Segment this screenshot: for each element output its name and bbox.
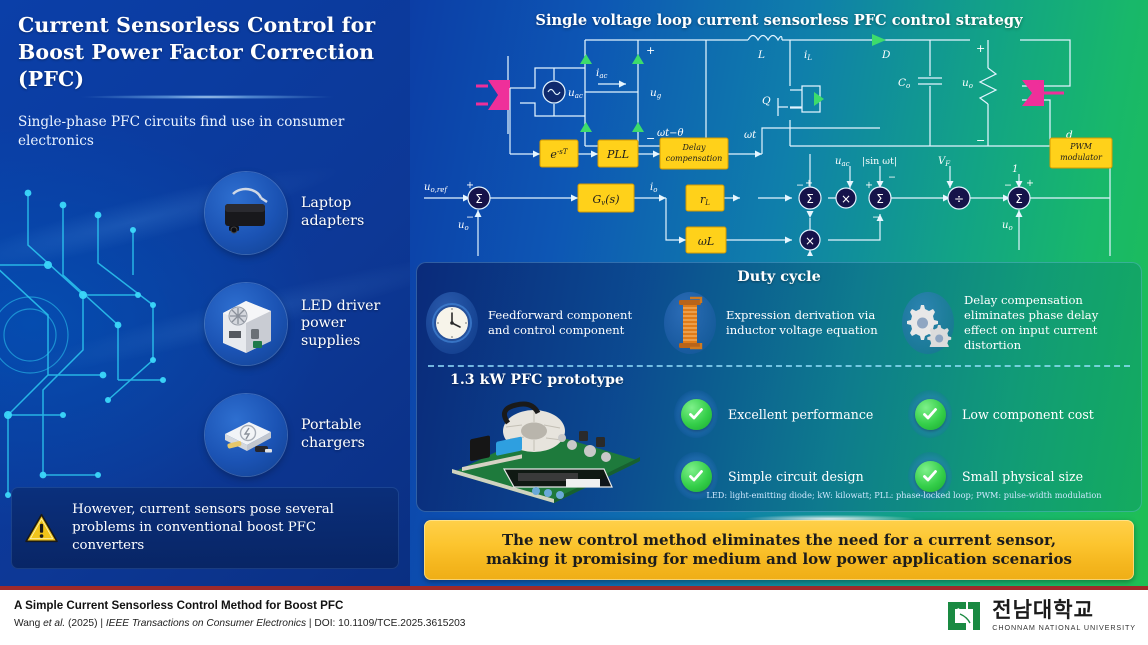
list-item-label: Feedforward component and control compon… bbox=[488, 308, 656, 338]
left-panel: Current Sensorless Control for Boost Pow… bbox=[0, 0, 410, 588]
svg-text:1: 1 bbox=[1012, 164, 1018, 175]
infographic-page: Current Sensorless Control for Boost Pow… bbox=[0, 0, 1148, 645]
list-item-label: Excellent performance bbox=[728, 407, 873, 422]
citation-line: Wang et al. (2025) | IEEE Transactions o… bbox=[14, 618, 465, 629]
svg-text:iL: iL bbox=[804, 49, 812, 62]
svg-text:+: + bbox=[865, 180, 873, 191]
svg-text:+: + bbox=[805, 178, 813, 189]
list-item: Portablechargers bbox=[205, 394, 405, 476]
svg-text:×: × bbox=[805, 234, 815, 248]
check-icon bbox=[908, 390, 952, 438]
warning-text: However, current sensors pose several pr… bbox=[72, 501, 385, 554]
product-list: Laptopadapters bbox=[205, 172, 405, 505]
svg-text:Gv(s): Gv(s) bbox=[593, 193, 620, 207]
year: (2025) bbox=[68, 618, 97, 629]
svg-text:D: D bbox=[881, 49, 891, 61]
svg-text:compensation: compensation bbox=[666, 154, 723, 163]
paper-title: A Simple Current Sensorless Control Meth… bbox=[14, 599, 343, 612]
list-item: Excellent performance bbox=[674, 390, 894, 438]
abbreviations-note: LED: light-emitting diode; kW: kilowatt;… bbox=[674, 490, 1134, 500]
diode-symbols bbox=[580, 34, 886, 132]
portable-charger-icon bbox=[205, 394, 287, 476]
svg-text:+: + bbox=[466, 180, 474, 191]
list-item: Low component cost bbox=[908, 390, 1128, 438]
duty-cycle-items: Feedforward component and control compon… bbox=[426, 292, 1132, 354]
list-item-label: LED driverpowersupplies bbox=[301, 298, 380, 351]
footer: A Simple Current Sensorless Control Meth… bbox=[0, 590, 1148, 645]
journal-name: IEEE Transactions on Consumer Electronic… bbox=[106, 618, 306, 629]
chonnam-logo-icon bbox=[944, 598, 984, 634]
list-item-label: Small physical size bbox=[962, 469, 1083, 484]
led-driver-psu-icon bbox=[205, 283, 287, 365]
warning-box: However, current sensors pose several pr… bbox=[11, 487, 399, 569]
section-divider bbox=[428, 365, 1130, 367]
svg-text:ug: ug bbox=[650, 87, 662, 100]
pfc-control-schematic: iac uac ug L iL Q D Co uo d +− +− bbox=[410, 28, 1148, 256]
list-item-label: Portablechargers bbox=[301, 417, 365, 452]
svg-text:L: L bbox=[757, 49, 765, 61]
svg-text:Q: Q bbox=[762, 95, 771, 107]
subtitle: Single-phase PFC circuits find use in co… bbox=[18, 113, 378, 152]
svg-text:Delay: Delay bbox=[682, 143, 706, 152]
ac-source-symbol bbox=[543, 81, 565, 103]
list-item-label: Delay compensation eliminates phase dela… bbox=[964, 293, 1132, 353]
svg-text:io: io bbox=[650, 182, 657, 194]
svg-text:uo,ref: uo,ref bbox=[424, 182, 448, 194]
svg-text:Σ: Σ bbox=[1015, 192, 1023, 206]
doi[interactable]: DOI: 10.1109/TCE.2025.3615203 bbox=[314, 618, 465, 629]
conclusion-line1: The new control method eliminates the ne… bbox=[486, 531, 1072, 551]
warning-triangle-icon bbox=[25, 499, 58, 557]
logo-english-text: CHONNAM NATIONAL UNIVERSITY bbox=[992, 623, 1136, 632]
pfc-prototype-photo bbox=[444, 395, 644, 505]
svg-text:PLL: PLL bbox=[606, 148, 629, 161]
svg-text:−: − bbox=[466, 212, 474, 223]
list-item-label: Laptopadapters bbox=[301, 195, 364, 230]
laptop-adapter-icon bbox=[205, 172, 287, 254]
list-item: Delay compensation eliminates phase dela… bbox=[902, 292, 1132, 354]
list-item: LED driverpowersupplies bbox=[205, 283, 405, 365]
svg-text:PWM: PWM bbox=[1069, 142, 1093, 151]
duty-cycle-panel: Duty cycle bbox=[416, 262, 1142, 512]
svg-text:−: − bbox=[646, 132, 655, 145]
svg-text:VF: VF bbox=[938, 156, 951, 168]
svg-text:+: + bbox=[646, 44, 655, 57]
et-al: et al. bbox=[43, 618, 65, 629]
svg-text:+: + bbox=[1026, 178, 1034, 189]
university-logo: 전남대학교 CHONNAM NATIONAL UNIVERSITY bbox=[944, 598, 1136, 634]
duty-cycle-title: Duty cycle bbox=[416, 268, 1142, 285]
logo-korean-text: 전남대학교 bbox=[992, 600, 1136, 621]
list-item-label: Simple circuit design bbox=[728, 469, 864, 484]
svg-text:−: − bbox=[1004, 180, 1012, 191]
svg-text:iac: iac bbox=[596, 67, 608, 80]
schematic-title: Single voltage loop current sensorless P… bbox=[410, 12, 1148, 29]
svg-text:−: − bbox=[872, 212, 880, 223]
svg-text:Σ: Σ bbox=[806, 192, 814, 206]
svg-text:|sin ωt|: |sin ωt| bbox=[862, 156, 897, 167]
clock-icon bbox=[426, 292, 478, 354]
right-panel: Single voltage loop current sensorless P… bbox=[410, 0, 1148, 588]
svg-text:Σ: Σ bbox=[876, 192, 884, 206]
check-icon bbox=[674, 390, 718, 438]
svg-text:Σ: Σ bbox=[475, 192, 483, 206]
prototype-title: 1.3 kW PFC prototype bbox=[450, 372, 624, 388]
svg-text:ωt−θ: ωt−θ bbox=[657, 128, 684, 139]
svg-text:uo: uo bbox=[1002, 220, 1013, 232]
svg-text:−: − bbox=[796, 180, 804, 191]
svg-text:uac: uac bbox=[568, 87, 583, 100]
inductor-coil-icon bbox=[664, 292, 716, 354]
title-block: Current Sensorless Control for Boost Pow… bbox=[18, 12, 398, 93]
svg-text:uac: uac bbox=[835, 156, 850, 168]
conclusion-text: The new control method eliminates the ne… bbox=[486, 531, 1072, 570]
list-item: Expression derivation via inductor volta… bbox=[664, 292, 894, 354]
svg-text:modulator: modulator bbox=[1060, 153, 1103, 162]
svg-text:Co: Co bbox=[898, 77, 910, 90]
svg-text:ωt: ωt bbox=[744, 130, 757, 141]
conclusion-line2: making it promising for medium and low p… bbox=[486, 550, 1072, 570]
svg-text:÷: ÷ bbox=[954, 192, 964, 206]
page-title: Current Sensorless Control for Boost Pow… bbox=[18, 12, 398, 93]
authors: Wang bbox=[14, 618, 40, 629]
list-item: Feedforward component and control compon… bbox=[426, 292, 656, 354]
list-item-label: Expression derivation via inductor volta… bbox=[726, 308, 894, 338]
separator-1: | bbox=[100, 618, 103, 629]
circuit-trace-decoration bbox=[0, 175, 203, 505]
svg-text:ωL: ωL bbox=[698, 235, 714, 248]
svg-text:−: − bbox=[976, 134, 985, 147]
separator-2: | bbox=[309, 618, 312, 629]
page-title-line1: Current Sensorless Control for bbox=[18, 12, 398, 39]
list-item: Laptopadapters bbox=[205, 172, 405, 254]
conclusion-banner: The new control method eliminates the ne… bbox=[424, 520, 1134, 580]
page-title-line2: Boost Power Factor Correction (PFC) bbox=[18, 39, 398, 93]
benefits-row: Excellent performance Low component cost bbox=[674, 390, 1129, 438]
list-item-label: Low component cost bbox=[962, 407, 1094, 422]
gears-icon bbox=[902, 292, 954, 354]
svg-text:×: × bbox=[841, 192, 851, 206]
svg-text:uo: uo bbox=[962, 77, 973, 90]
svg-text:−: − bbox=[888, 172, 896, 183]
inductor-symbol bbox=[748, 36, 782, 41]
title-divider bbox=[30, 92, 385, 102]
svg-text:+: + bbox=[976, 42, 985, 55]
